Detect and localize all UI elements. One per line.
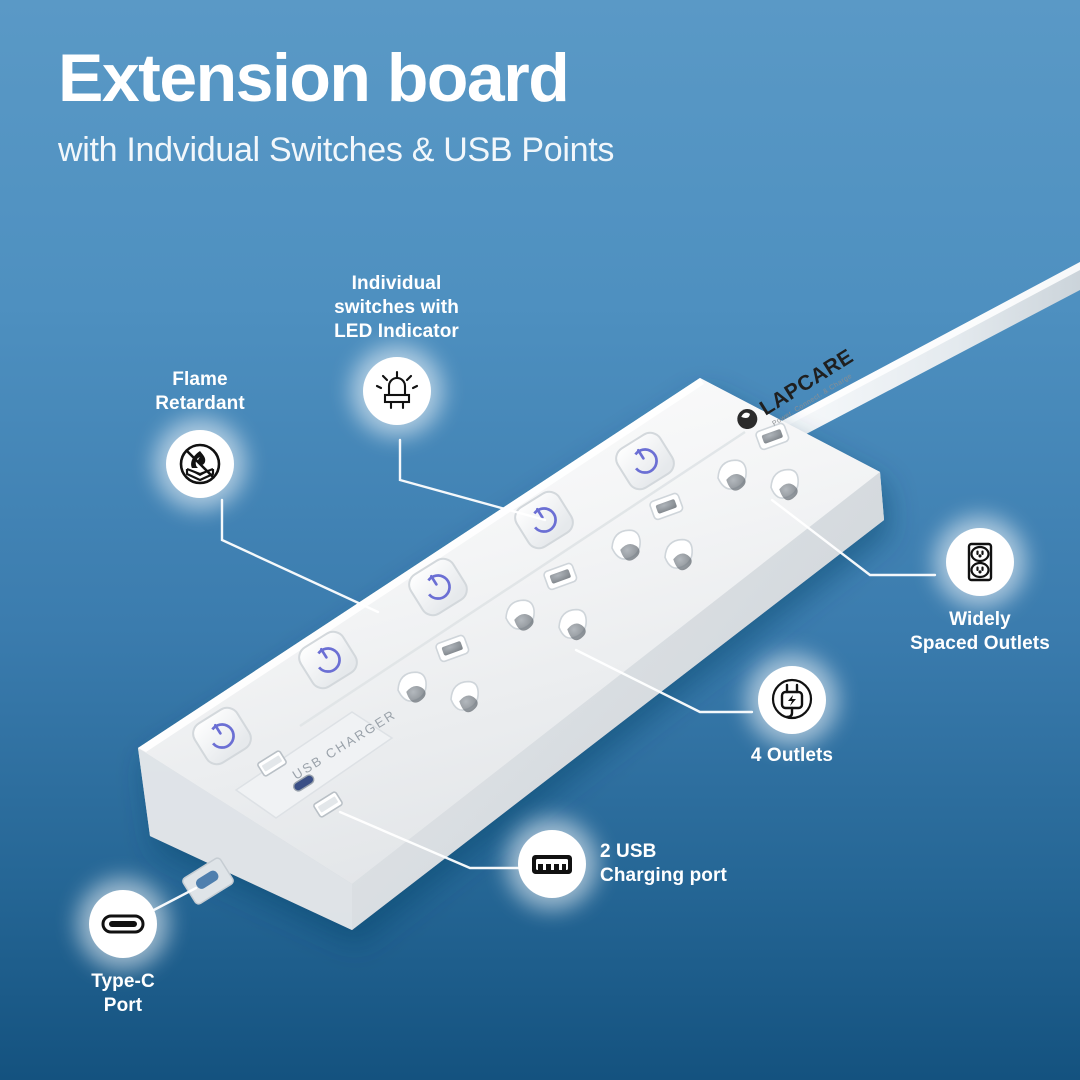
callout-label-usb: 2 USB Charging port <box>600 840 727 888</box>
callout-label-led: Individual switches with LED Indicator <box>329 272 464 343</box>
line-usb <box>340 812 520 868</box>
page-title: Extension board <box>58 42 958 115</box>
header-block: Extension board with Indvidual Switches … <box>58 42 958 170</box>
wall-outlet-icon[interactable] <box>946 528 1014 596</box>
callout-flame-retardant: Flame Retardant <box>132 368 268 498</box>
callout-usb-charging-port: 2 USB Charging port <box>518 830 768 898</box>
callout-label-4outlets: 4 Outlets <box>722 744 862 768</box>
line-flame <box>222 500 378 612</box>
flame-retardant-icon[interactable] <box>166 430 234 498</box>
callout-type-c-port: Type-C Port <box>78 890 168 1018</box>
line-led <box>400 440 545 520</box>
led-indicator-icon[interactable] <box>363 357 431 425</box>
callout-label-flame: Flame Retardant <box>132 368 268 416</box>
usb-a-port-icon[interactable] <box>518 830 586 898</box>
callout-four-outlets: 4 Outlets <box>722 666 862 768</box>
plug-icon[interactable] <box>758 666 826 734</box>
callout-label-typec: Type-C Port <box>78 970 168 1018</box>
callout-widely-spaced-outlets: Widely Spaced Outlets <box>907 528 1053 656</box>
page-subtitle: with Indvidual Switches & USB Points <box>58 131 958 170</box>
usb-type-c-icon[interactable] <box>89 890 157 958</box>
callout-led-indicator: Individual switches with LED Indicator <box>329 272 464 425</box>
callout-label-outlets: Widely Spaced Outlets <box>907 608 1053 656</box>
